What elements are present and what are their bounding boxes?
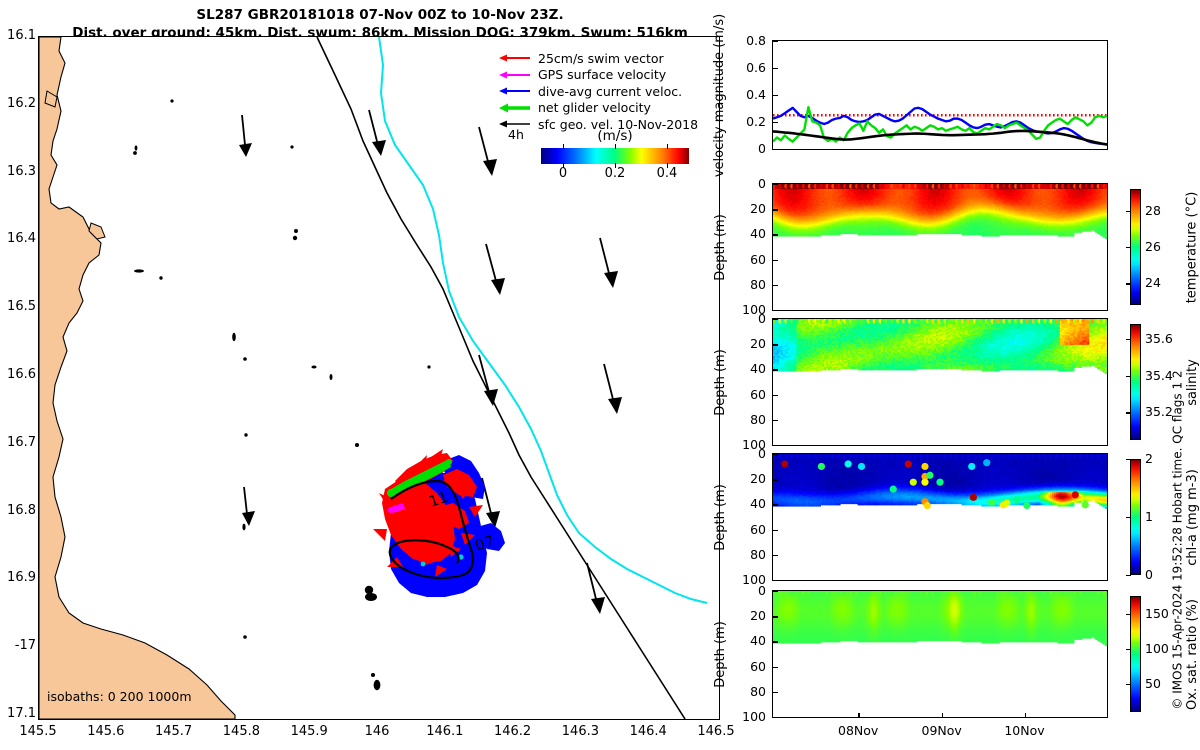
credit-text: © IMOS 15-Apr-2024 19:52:28 Hobart time.… — [1171, 370, 1185, 709]
oxygen-saturation-section-axes[interactable] — [772, 590, 1108, 718]
chla-outlier-point-21 — [1023, 502, 1030, 509]
oxygen-saturation-section-ytick-1: 20 — [728, 608, 766, 623]
salinity-section-ytick-1: 20 — [728, 336, 766, 351]
glider-vector-cluster — [373, 449, 505, 597]
chlorophyll-a-section-colorbar-tick-0: 0 — [1145, 567, 1153, 582]
map-legend: 25cm/s swim vector GPS surface velocity … — [498, 50, 703, 133]
chlorophyll-a-section-axes[interactable] — [772, 453, 1108, 581]
velocity-ytick-3: 0.6 — [728, 60, 766, 75]
velocity-ytick-1: 0.2 — [728, 114, 766, 129]
time-axis-tick-0: 08Nov — [828, 723, 888, 738]
map-ytick-10: 17.1 — [0, 706, 36, 721]
oxygen-saturation-section-ylabel: Depth (m) — [712, 621, 727, 688]
swim-vector-arrow-icon — [498, 52, 532, 64]
chla-outlier-point-7 — [910, 479, 917, 486]
chla-outlier-point-15 — [970, 494, 977, 501]
map-ytick-4: 16.5 — [0, 299, 36, 314]
map-ytick-9: -17 — [0, 638, 36, 653]
map-colorbar-tick-1: 0.2 — [595, 166, 635, 181]
chla-outlier-point-8 — [921, 479, 928, 486]
time-axis-tick-2: 10Nov — [995, 723, 1055, 738]
salinity-section-ylabel: Depth (m) — [712, 349, 727, 416]
velocity-ytick-2: 0.4 — [728, 87, 766, 102]
oxygen-saturation-section-colorbar-tick-1: 100 — [1145, 641, 1169, 656]
map-colorbar[interactable] — [541, 148, 689, 164]
chla-outlier-point-1 — [818, 463, 825, 470]
temperature-section-ytick-1: 20 — [728, 201, 766, 216]
oxygen-saturation-section-plot — [773, 591, 1107, 717]
salinity-section-plot — [773, 319, 1107, 445]
map-ytick-0: 16.1 — [0, 28, 36, 43]
map-xtick-3: 145.8 — [213, 724, 269, 739]
oxygen-saturation-section-colorbar[interactable] — [1130, 596, 1141, 712]
temperature-section-colorbar-tick-1: 26 — [1145, 239, 1161, 254]
salinity-section-colorbar-title: salinity — [1184, 359, 1199, 406]
net-glider-velocity-arrow-icon — [498, 102, 532, 114]
temperature-section-ytick-4: 80 — [728, 277, 766, 292]
legend-item-swim-vector: 25cm/s swim vector — [498, 50, 703, 67]
map-xtick-1: 145.6 — [78, 724, 134, 739]
isobaths-note: isobaths: 0 200 1000m — [47, 689, 192, 704]
map-ytick-8: 16.9 — [0, 570, 36, 585]
velocity-ylabel: velocity magnitude (m/s) — [712, 13, 727, 176]
chla-outlier-point-20 — [1013, 496, 1020, 503]
map-xtick-5: 146 — [349, 724, 405, 739]
chla-outlier-point-4 — [905, 460, 912, 467]
map-ytick-6: 16.7 — [0, 435, 36, 450]
chla-outlier-point-23 — [1082, 501, 1089, 508]
legend-label-dive-avg-current: dive-avg current veloc. — [538, 84, 682, 99]
oxygen-saturation-section-colorbar-title: Ox. sat. ratio (%) — [1185, 599, 1200, 710]
temperature-section-ylabel: Depth (m) — [712, 214, 727, 281]
map-xtick-10: 146.5 — [688, 724, 744, 739]
chla-outlier-point-19 — [1003, 499, 1010, 506]
figure-root: SL287 GBR20181018 07-Nov 00Z to 10-Nov 2… — [0, 0, 1200, 750]
map-colorbar-title: (m/s) — [540, 128, 690, 144]
chla-outlier-point-10 — [936, 479, 943, 486]
map-xtick-6: 146.1 — [417, 724, 473, 739]
salinity-section-colorbar-tick-1: 35.4 — [1145, 368, 1173, 383]
chlorophyll-a-section-ytick-3: 60 — [728, 522, 766, 537]
map-xtick-2: 145.7 — [146, 724, 202, 739]
chlorophyll-a-section-ytick-4: 80 — [728, 547, 766, 562]
salinity-section-colorbar[interactable] — [1130, 324, 1141, 440]
chla-outlier-point-3 — [858, 463, 865, 470]
temperature-section-axes[interactable] — [772, 183, 1108, 311]
map-ytick-1: 16.2 — [0, 96, 36, 111]
oxygen-saturation-section-ytick-0: 0 — [728, 583, 766, 598]
chla-outlier-point-9 — [926, 472, 933, 479]
salinity-section-colorbar-tick-2: 35.6 — [1145, 331, 1173, 346]
oxygen-saturation-section-ytick-4: 80 — [728, 684, 766, 699]
oxygen-saturation-section-colorbar-tick-0: 50 — [1145, 676, 1161, 691]
salinity-section-axes[interactable] — [772, 318, 1108, 446]
oxygen-saturation-section-ytick-3: 60 — [728, 659, 766, 674]
temperature-section-ytick-3: 60 — [728, 252, 766, 267]
map-xtick-0: 145.5 — [10, 724, 66, 739]
temperature-section-ytick-2: 40 — [728, 226, 766, 241]
temperature-section-colorbar-tick-2: 28 — [1145, 203, 1161, 218]
chlorophyll-a-section-colorbar-tick-1: 1 — [1145, 509, 1153, 524]
chlorophyll-a-section-plot — [773, 454, 1107, 580]
velocity-ytick-4: 0.8 — [728, 33, 766, 48]
map-xtick-9: 146.4 — [620, 724, 676, 739]
chlorophyll-a-section-ytick-1: 20 — [728, 471, 766, 486]
chla-outlier-point-5 — [921, 463, 928, 470]
legend-item-dive-avg-current: dive-avg current veloc. — [498, 83, 703, 100]
chla-outlier-point-16 — [983, 459, 990, 466]
map-ytick-2: 16.3 — [0, 164, 36, 179]
title-line-1: SL287 GBR20181018 07-Nov 00Z to 10-Nov 2… — [40, 6, 720, 24]
salinity-section-colorbar-tick-0: 35.2 — [1145, 404, 1173, 419]
temperature-section-colorbar[interactable] — [1130, 189, 1141, 305]
velocity-ytick-0: 0 — [728, 141, 766, 156]
salinity-section-ytick-3: 60 — [728, 387, 766, 402]
map-colorbar-tick-2: 0.4 — [647, 166, 687, 181]
oxygen-saturation-section-colorbar-tick-2: 150 — [1145, 606, 1169, 621]
chlorophyll-a-section-ytick-0: 0 — [728, 446, 766, 461]
map-ytick-5: 16.6 — [0, 367, 36, 382]
chla-outlier-point-0 — [781, 460, 788, 467]
map-ytick-3: 16.4 — [0, 231, 36, 246]
gps-surface-velocity-arrow-icon — [498, 69, 532, 81]
reef-dots — [133, 99, 431, 690]
dive-avg-current-arrow-icon — [498, 85, 532, 97]
legend-item-gps-surface-velocity: GPS surface velocity — [498, 67, 703, 84]
chla-outlier-point-14 — [968, 463, 975, 470]
land-polygon — [39, 37, 235, 719]
legend-label-gps-surface-velocity: GPS surface velocity — [538, 67, 666, 82]
legend-label-net-glider-velocity: net glider velocity — [538, 100, 651, 115]
chla-outlier-point-22 — [1072, 491, 1079, 498]
salinity-section-ytick-2: 40 — [728, 361, 766, 376]
chla-outlier-point-13 — [924, 502, 931, 509]
legend-scale-label: 4h — [508, 127, 524, 142]
time-axis-tick-1: 09Nov — [912, 723, 972, 738]
legend-label-swim-vector: 25cm/s swim vector — [538, 51, 664, 66]
chlorophyll-a-section-colorbar-tick-2: 2 — [1145, 451, 1153, 466]
chlorophyll-a-section-ylabel: Depth (m) — [712, 484, 727, 551]
map-ytick-7: 16.8 — [0, 503, 36, 518]
velocity-timeseries-axes[interactable] — [772, 40, 1108, 150]
temperature-section-colorbar-tick-0: 24 — [1145, 275, 1161, 290]
oxygen-saturation-section-ytick-5: 100 — [728, 709, 766, 724]
temperature-section-ytick-0: 0 — [728, 176, 766, 191]
salinity-section-ytick-0: 0 — [728, 311, 766, 326]
map-xtick-4: 145.9 — [281, 724, 337, 739]
chlorophyll-a-section-colorbar-title: chl-a (mg m-3) — [1184, 469, 1199, 566]
oxygen-saturation-section-ytick-2: 40 — [728, 633, 766, 648]
map-colorbar-tick-0: 0 — [543, 166, 583, 181]
map-xtick-7: 146.2 — [485, 724, 541, 739]
velocity-timeseries-plot — [773, 41, 1107, 149]
chlorophyll-a-section-colorbar[interactable] — [1130, 459, 1141, 575]
map-xtick-8: 146.3 — [552, 724, 608, 739]
chlorophyll-a-section-ytick-2: 40 — [728, 496, 766, 511]
chla-outlier-point-11 — [890, 486, 897, 493]
temperature-section-plot — [773, 184, 1107, 310]
map-colorbar-gradient — [541, 148, 689, 164]
legend-item-net-glider-velocity: net glider velocity — [498, 100, 703, 117]
chla-outlier-point-17 — [988, 499, 995, 506]
salinity-section-ytick-4: 80 — [728, 412, 766, 427]
chla-outlier-point-2 — [845, 460, 852, 467]
temperature-section-colorbar-title: temperature (°C) — [1184, 191, 1199, 303]
